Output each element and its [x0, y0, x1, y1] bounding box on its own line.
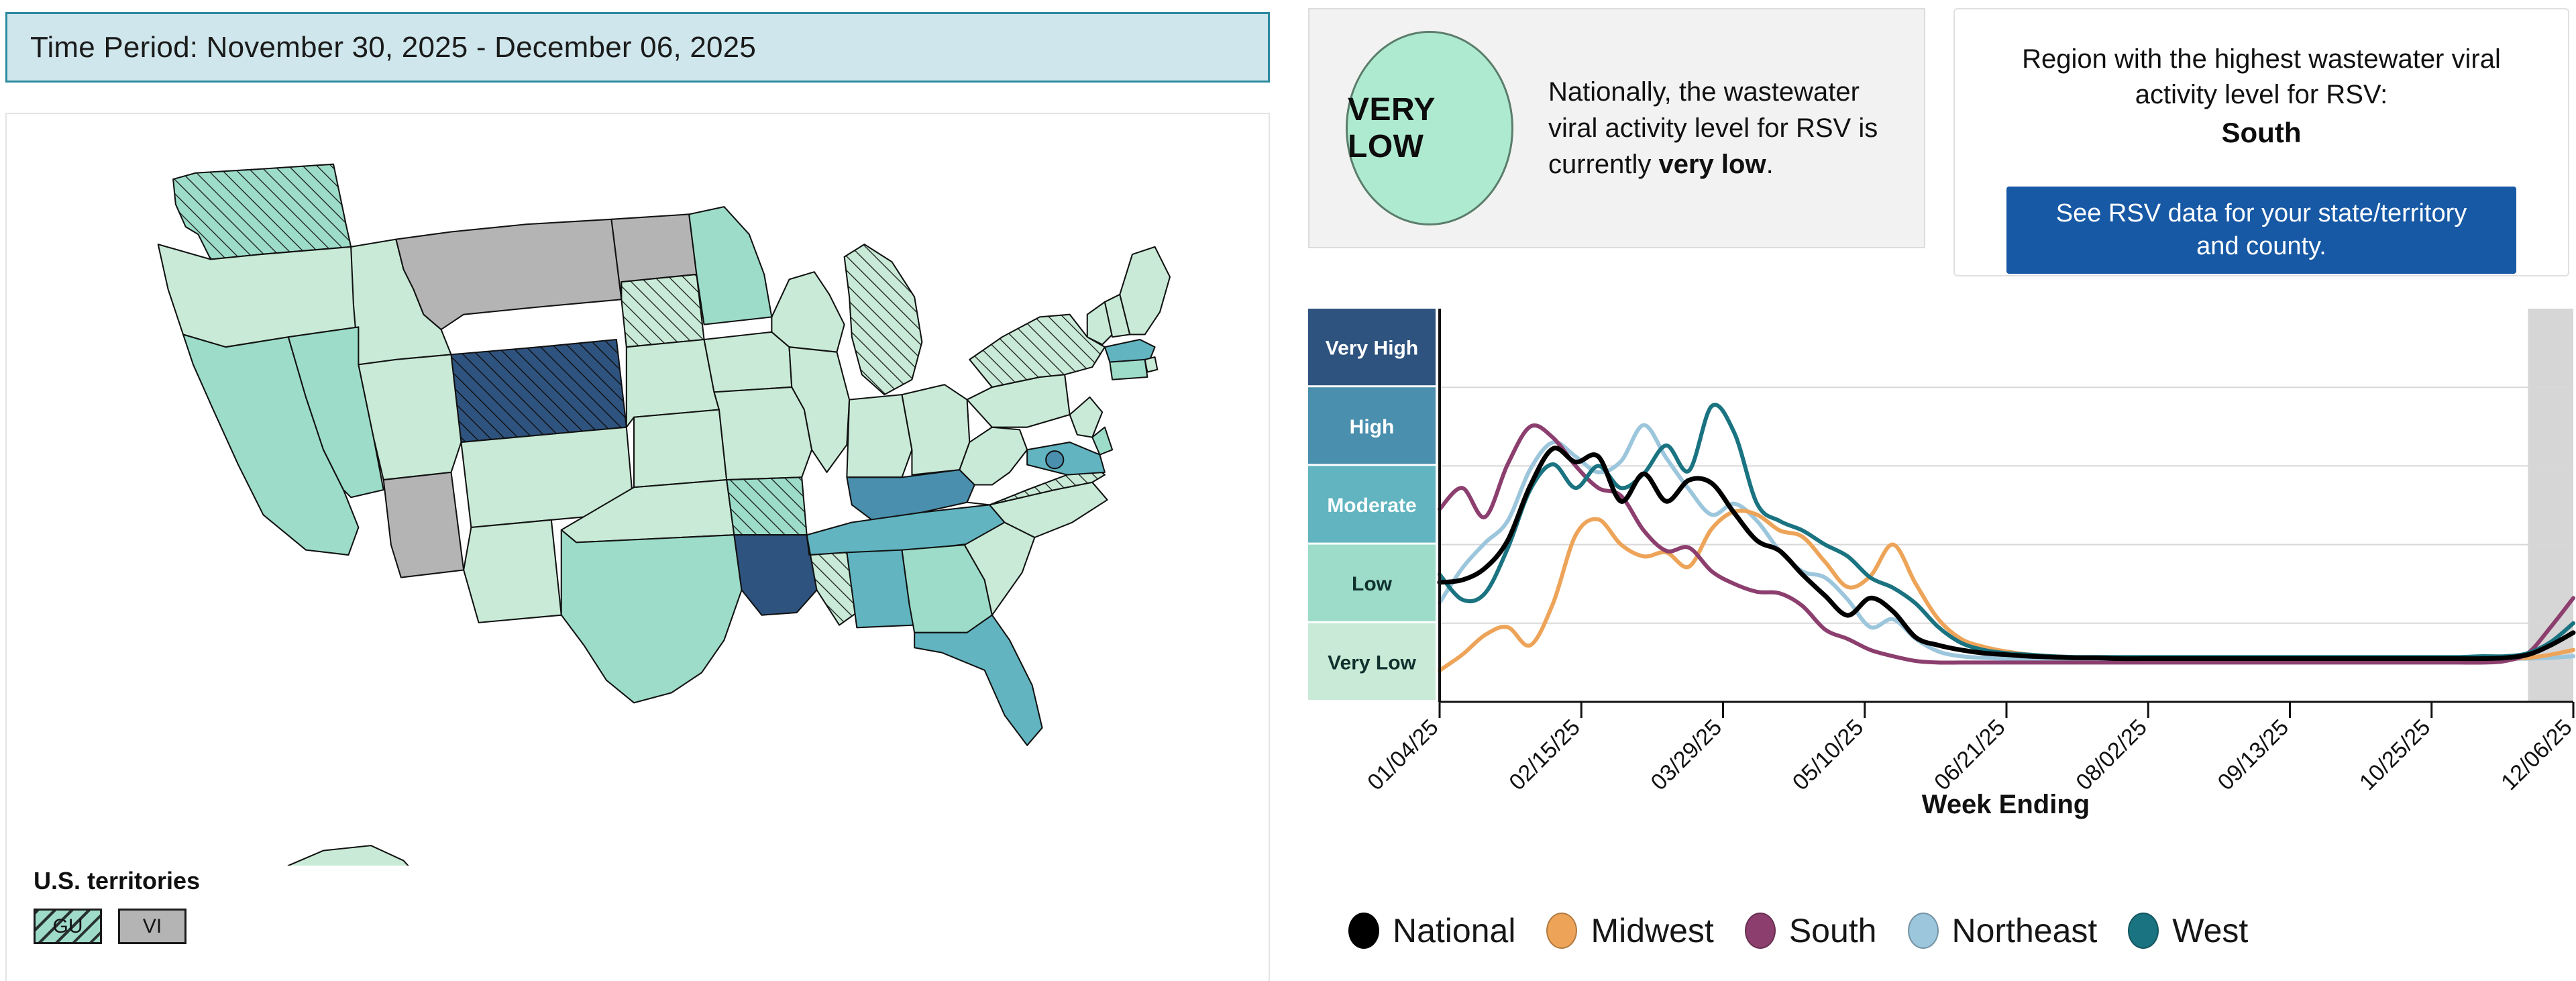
x-tick-label: 03/29/25	[1646, 715, 1727, 795]
national-level-text: VERY LOW	[1348, 91, 1511, 165]
highest-region-question: Region with the highest wastewater viral…	[1990, 42, 2533, 113]
legend-item-west[interactable]: West	[2128, 911, 2248, 950]
x-tick-label: 09/13/25	[2213, 715, 2294, 795]
legend-label: National	[1393, 911, 1515, 950]
y-band-label: Very High	[1326, 338, 1418, 360]
rsv-wastewater-dashboard: Time Period: November 30, 2025 - Decembe…	[0, 0, 2576, 981]
state-AZ[interactable]	[384, 472, 464, 578]
x-tick-label: 06/21/25	[1929, 715, 2010, 795]
x-tick-label: 01/04/25	[1362, 715, 1443, 795]
state-NM[interactable]	[464, 520, 561, 623]
territory-chip-vi[interactable]: VI	[118, 909, 186, 944]
legend-swatch-icon	[1348, 913, 1379, 949]
state-WI[interactable]	[771, 272, 844, 352]
us-choropleth-map[interactable]	[7, 114, 1271, 866]
legend-swatch-icon	[1745, 913, 1776, 949]
legend-label: Northeast	[1952, 911, 2098, 950]
us-map-svg[interactable]	[7, 114, 1271, 866]
territories-title: U.S. territories	[34, 867, 200, 895]
legend-swatch-icon	[1908, 913, 1939, 949]
state-SD[interactable]	[621, 274, 704, 347]
national-level-badge: VERY LOW	[1346, 31, 1513, 225]
x-tick-label: 12/06/25	[2496, 715, 2576, 795]
legend-label: West	[2172, 911, 2248, 950]
territories-chip-row: GU VI	[34, 909, 200, 944]
state-IA[interactable]	[704, 332, 792, 393]
national-description-suffix: .	[1766, 150, 1774, 179]
national-level-card: VERY LOW Nationally, the wastewater vira…	[1308, 8, 1925, 248]
territory-chip-gu[interactable]: GU	[34, 909, 102, 944]
legend-item-south[interactable]: South	[1745, 911, 1877, 950]
chart-legend: NationalMidwestSouthNortheastWest	[1348, 911, 2576, 950]
state-MO[interactable]	[714, 387, 812, 480]
y-band-label: High	[1350, 416, 1395, 438]
state-PA[interactable]	[967, 374, 1070, 427]
state-OH[interactable]	[902, 384, 970, 474]
state-ME[interactable]	[1120, 247, 1170, 335]
x-tick-label: 05/10/25	[1788, 715, 1868, 795]
state-LA[interactable]	[734, 535, 816, 615]
map-panel: Time Period: November 30, 2025 - Decembe…	[0, 0, 1275, 981]
state-FL[interactable]	[914, 615, 1042, 745]
state-MT[interactable]	[396, 219, 621, 329]
y-band-label: Very Low	[1328, 652, 1416, 674]
legend-item-national[interactable]: National	[1348, 911, 1515, 950]
legend-item-midwest[interactable]: Midwest	[1546, 911, 1713, 950]
state-WY[interactable]	[451, 340, 627, 442]
x-axis-title: Week Ending	[1922, 790, 2090, 819]
highest-region-answer: South	[1990, 117, 2533, 149]
territory-code-vi: VI	[143, 915, 162, 938]
trend-chart-svg[interactable]: Very HighHighModerateLowVery Low 01/04/2…	[1308, 303, 2576, 907]
x-axis-ticks	[1440, 702, 2573, 718]
legend-label: South	[1789, 911, 1877, 950]
state-AR[interactable]	[727, 477, 806, 535]
x-tick-label: 10/25/25	[2355, 715, 2435, 795]
state-MN[interactable]	[689, 207, 771, 324]
state-CT[interactable]	[1110, 360, 1147, 380]
territory-code-gu: GU	[53, 915, 83, 938]
state-NJ[interactable]	[1070, 397, 1103, 437]
state-IN[interactable]	[847, 395, 912, 477]
summary-and-trend-panel: VERY LOW Nationally, the wastewater vira…	[1308, 0, 2576, 981]
y-band-label: Moderate	[1327, 495, 1416, 517]
state-WA[interactable]	[173, 164, 351, 260]
x-tick-label: 08/02/25	[2071, 715, 2151, 795]
legend-swatch-icon	[2128, 913, 2159, 949]
state-AK[interactable]	[95, 845, 436, 866]
state-TX[interactable]	[561, 530, 742, 703]
see-rsv-data-button[interactable]: See RSV data for your state/territory an…	[2006, 187, 2516, 274]
legend-swatch-icon	[1546, 913, 1577, 949]
territories-legend: U.S. territories GU VI	[34, 867, 200, 944]
state-DC[interactable]	[1046, 451, 1063, 468]
plot-background	[1440, 309, 2573, 702]
us-map-card: U.S. territories GU VI	[5, 113, 1270, 981]
highest-region-card: Region with the highest wastewater viral…	[1953, 8, 2569, 276]
x-tick-label: 02/15/25	[1504, 715, 1585, 795]
x-axis-tick-labels: 01/04/2502/15/2503/29/2505/10/2506/21/25…	[1362, 715, 2576, 795]
time-period-banner: Time Period: November 30, 2025 - Decembe…	[5, 12, 1270, 83]
time-period-label: Time Period: November 30, 2025 - Decembe…	[30, 31, 756, 64]
state-MD[interactable]	[1027, 442, 1105, 475]
legend-label: Midwest	[1591, 911, 1713, 950]
national-description: Nationally, the wastewater viral activit…	[1548, 74, 1897, 183]
y-band-label: Low	[1352, 573, 1393, 595]
state-NY[interactable]	[969, 315, 1105, 387]
legend-item-northeast[interactable]: Northeast	[1908, 911, 2098, 950]
regional-trend-chart[interactable]: Very HighHighModerateLowVery Low 01/04/2…	[1308, 303, 2576, 981]
state-MI[interactable]	[845, 244, 922, 395]
y-axis-level-bands: Very HighHighModerateLowVery Low	[1308, 309, 1436, 700]
national-description-emphasis: very low	[1659, 150, 1766, 179]
